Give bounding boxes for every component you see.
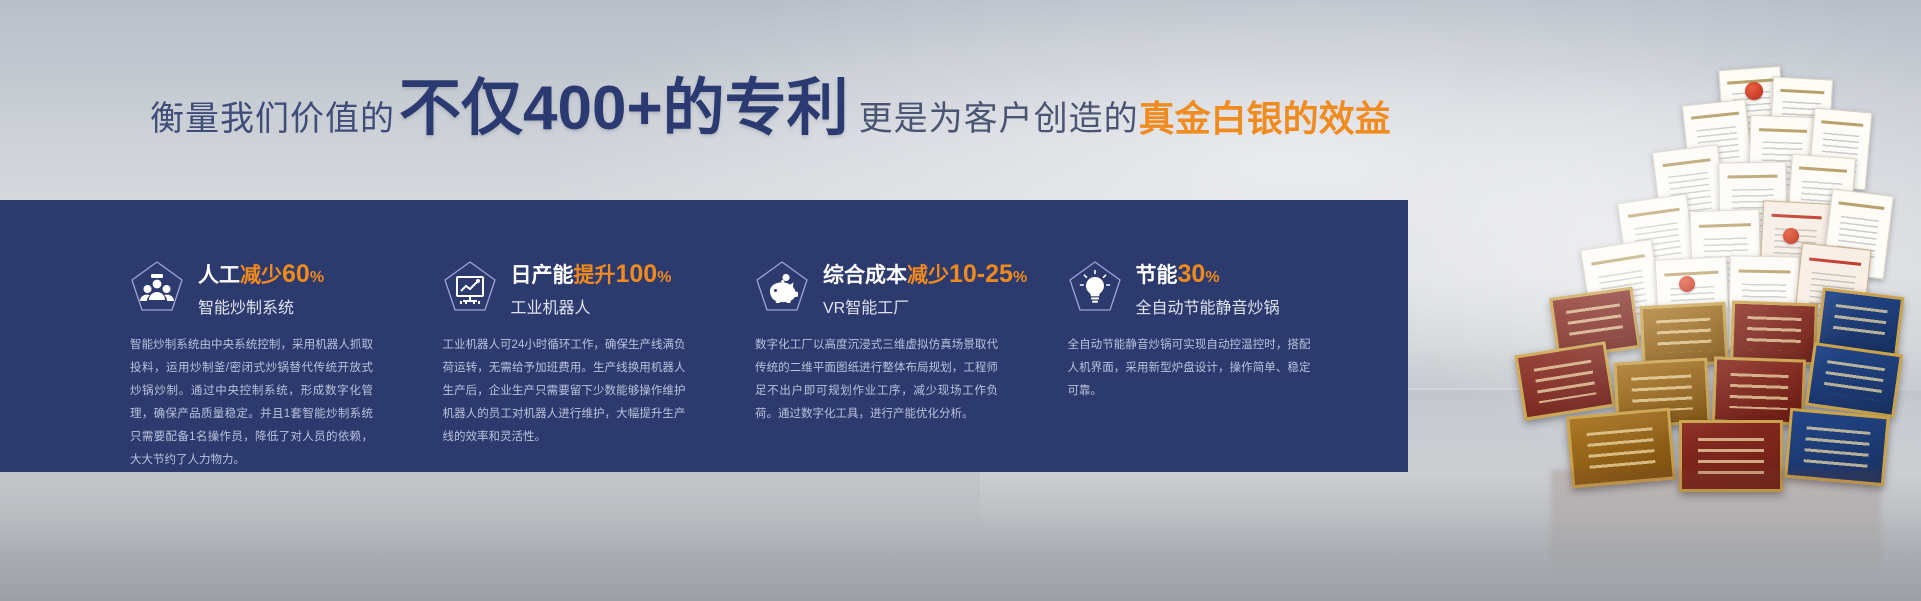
feature-title-highlight: 提升 [574,264,616,287]
headline-emphasis: 不仅400+的专利 [395,78,853,140]
feature-subtitle: 智能炒制系统 [198,294,324,318]
piggy-bank-icon [755,260,809,318]
feature-body: 智能炒制系统由中央系统控制，采用机器人抓取投料，运用炒制釜/密闭式炒锅替代传统开… [130,334,373,472]
feature-subtitle: 全自动节能静音炒锅 [1136,294,1280,318]
feature-card-capacity: 日产能提升100% 工业机器人 工业机器人可24小时循环工作，确保生产线满负荷运… [443,258,756,448]
feature-subtitle: 工业机器人 [511,294,672,318]
feature-text: 节能30% 全自动节能静音炒锅 [1136,260,1280,318]
lightbulb-icon [1068,260,1122,318]
award-plaque [1514,341,1615,421]
feature-title-percent: % [1205,269,1219,286]
feature-subtitle: VR智能工厂 [823,294,1027,318]
feature-card-labor: 人工减少60% 智能炒制系统 智能炒制系统由中央系统控制，采用机器人抓取投料，运… [130,258,443,448]
feature-text: 人工减少60% 智能炒制系统 [198,260,324,318]
award-plaque [1730,301,1818,366]
people-group-icon [130,260,184,318]
feature-text: 日产能提升100% 工业机器人 [511,260,672,318]
headline-lead: 衡量我们价值的 [150,102,395,140]
feature-header: 节能30% 全自动节能静音炒锅 [1068,258,1361,320]
feature-title-number: 60 [282,260,310,288]
feature-title-percent: % [657,269,671,286]
feature-title-percent: % [1013,269,1027,286]
feature-title-plain: 人工 [198,264,240,287]
red-seal [1745,82,1763,100]
feature-body: 数字化工厂以高度沉浸式三维虚拟仿真场景取代传统的二维平面图纸进行整体布局规划，工… [755,334,998,426]
certificate-reflection [1551,470,1881,601]
features-row: 人工减少60% 智能炒制系统 智能炒制系统由中央系统控制，采用机器人抓取投料，运… [130,258,1380,448]
chart-board-icon [443,260,497,318]
feature-body: 工业机器人可24小时循环工作，确保生产线满负荷运转，无需给予加班费用。生产线换用… [443,334,686,449]
headline-accent: 真金白银的效益 [1139,101,1391,140]
feature-title-number: 30 [1178,260,1206,288]
feature-title: 节能30% [1136,260,1280,289]
features-panel: 人工减少60% 智能炒制系统 智能炒制系统由中央系统控制，采用机器人抓取投料，运… [0,200,1408,472]
feature-header: 日产能提升100% 工业机器人 [443,258,736,320]
feature-title: 日产能提升100% [511,260,672,289]
feature-title-number: 10-25 [949,260,1013,288]
feature-title-highlight: 减少 [240,264,282,287]
feature-title-plain: 节能 [1136,264,1178,287]
feature-text: 综合成本减少10-25% VR智能工厂 [823,260,1027,318]
feature-title-highlight: 减少 [907,264,949,287]
feature-title: 综合成本减少10-25% [823,260,1027,289]
page-headline: 衡量我们价值的 不仅400+的专利 更是为客户创造的 真金白银的效益 [150,78,1480,140]
feature-card-energy: 节能30% 全自动节能静音炒锅 全自动节能静音炒锅可实现自动控温控时，搭配人机界… [1068,258,1381,448]
feature-title-plain: 综合成本 [823,264,907,287]
feature-header: 综合成本减少10-25% VR智能工厂 [755,258,1048,320]
red-seal [1783,228,1799,244]
feature-header: 人工减少60% 智能炒制系统 [130,258,423,320]
award-plaque [1805,342,1903,418]
feature-title: 人工减少60% [198,260,324,289]
feature-title-percent: % [310,269,324,286]
red-seal [1679,276,1695,292]
feature-card-cost: 综合成本减少10-25% VR智能工厂 数字化工厂以高度沉浸式三维虚拟仿真场景取… [755,258,1068,448]
headline-middle: 更是为客户创造的 [853,102,1139,140]
feature-body: 全自动节能静音炒锅可实现自动控温控时，搭配人机界面，采用新型炉盘设计，操作简单、… [1068,334,1311,403]
feature-title-number: 100 [616,260,658,288]
feature-title-plain: 日产能 [511,264,574,287]
